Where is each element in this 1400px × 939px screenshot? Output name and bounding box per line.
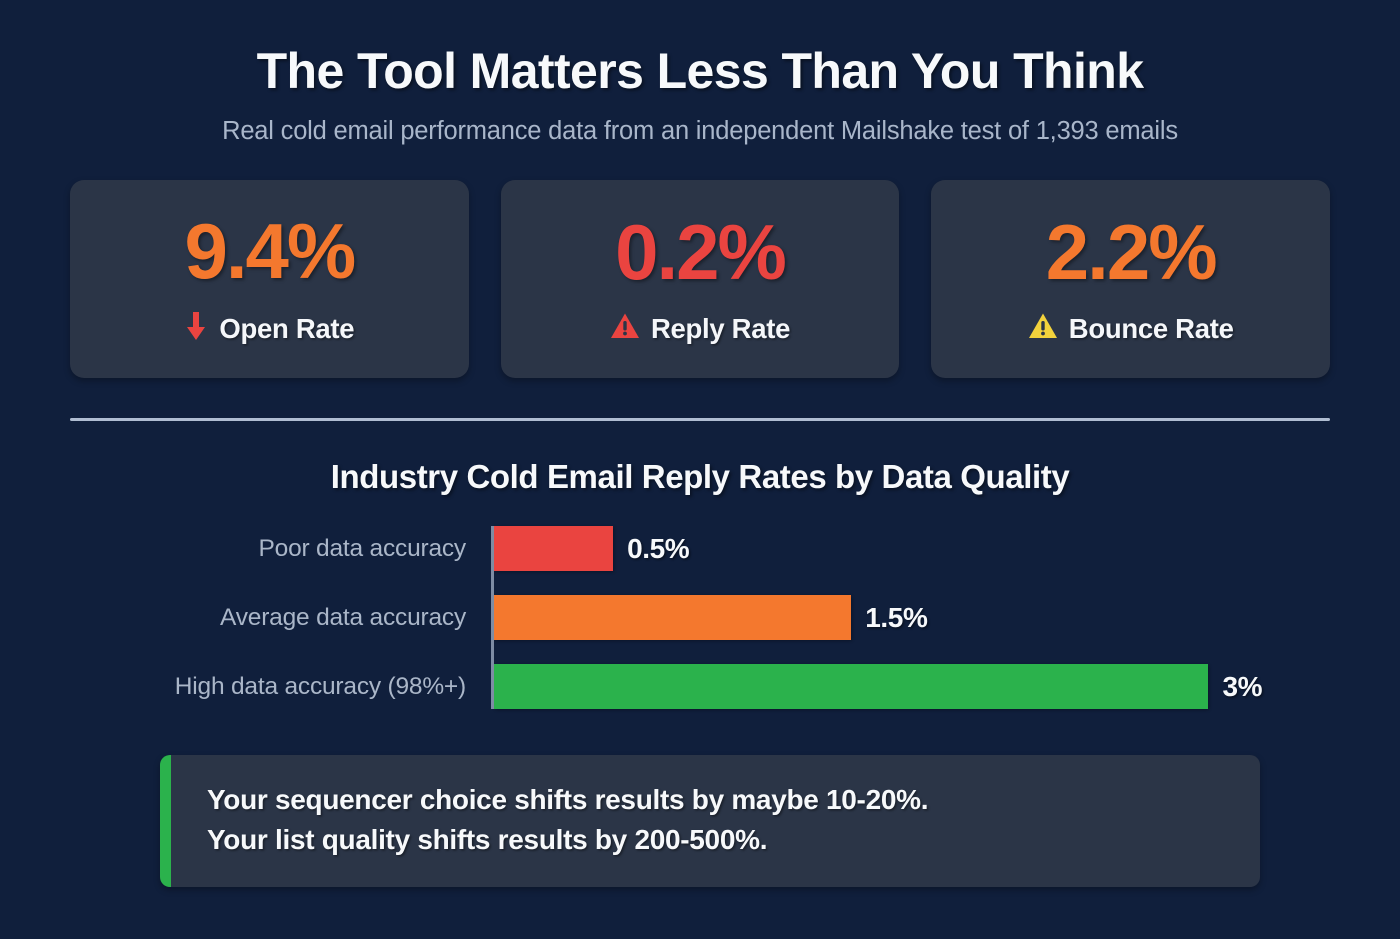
bar-track: 0.5% [494, 526, 1330, 571]
callout-box: Your sequencer choice shifts results by … [160, 755, 1260, 887]
stat-card-reply-rate: 0.2% Reply Rate [501, 180, 900, 378]
callout-line-1: Your sequencer choice shifts results by … [207, 780, 1230, 820]
bar-fill-average [494, 595, 851, 640]
callout-line-2: Your list quality shifts results by 200-… [207, 820, 1230, 860]
page-title: The Tool Matters Less Than You Think [0, 44, 1400, 98]
bar-fill-high [494, 664, 1208, 709]
bar-track: 1.5% [494, 595, 1330, 640]
bar-label: High data accuracy (98%+) [70, 673, 480, 701]
bar-row: Poor data accuracy 0.5% [70, 526, 1330, 571]
stat-label-row-reply-rate: Reply Rate [610, 312, 790, 345]
bar-chart: Poor data accuracy 0.5% Average data acc… [70, 526, 1330, 709]
warning-triangle-icon [1028, 312, 1058, 345]
bar-value: 3% [1222, 671, 1262, 703]
bar-row: High data accuracy (98%+) 3% [70, 664, 1330, 709]
bar-label: Poor data accuracy [70, 535, 480, 563]
stat-card-open-rate: 9.4% Open Rate [70, 180, 469, 378]
stat-value-open-rate: 9.4% [184, 212, 354, 290]
header: The Tool Matters Less Than You Think Rea… [0, 0, 1400, 146]
stat-label-reply-rate: Reply Rate [651, 313, 790, 345]
stat-label-bounce-rate: Bounce Rate [1069, 313, 1234, 345]
chart-axis-line [491, 526, 494, 709]
bar-value: 0.5% [627, 533, 689, 565]
stat-card-bounce-rate: 2.2% Bounce Rate [931, 180, 1330, 378]
section-divider [70, 418, 1330, 421]
chart-section: Industry Cold Email Reply Rates by Data … [0, 458, 1400, 709]
page-subtitle: Real cold email performance data from an… [0, 117, 1400, 146]
chart-title: Industry Cold Email Reply Rates by Data … [70, 458, 1330, 496]
warning-triangle-icon [610, 312, 640, 345]
stat-label-open-rate: Open Rate [219, 313, 354, 345]
stat-cards-row: 9.4% Open Rate 0.2% [0, 146, 1400, 378]
stat-value-reply-rate: 0.2% [615, 213, 785, 291]
bar-label: Average data accuracy [70, 604, 480, 632]
bar-row: Average data accuracy 1.5% [70, 595, 1330, 640]
bar-track: 3% [494, 664, 1330, 709]
bar-fill-poor [494, 526, 613, 571]
stat-value-bounce-rate: 2.2% [1046, 213, 1216, 291]
down-arrow-icon [184, 311, 208, 346]
stat-label-row-bounce-rate: Bounce Rate [1028, 312, 1234, 345]
infographic-root: The Tool Matters Less Than You Think Rea… [0, 0, 1400, 939]
bar-value: 1.5% [865, 602, 927, 634]
stat-label-row-open-rate: Open Rate [184, 311, 354, 346]
